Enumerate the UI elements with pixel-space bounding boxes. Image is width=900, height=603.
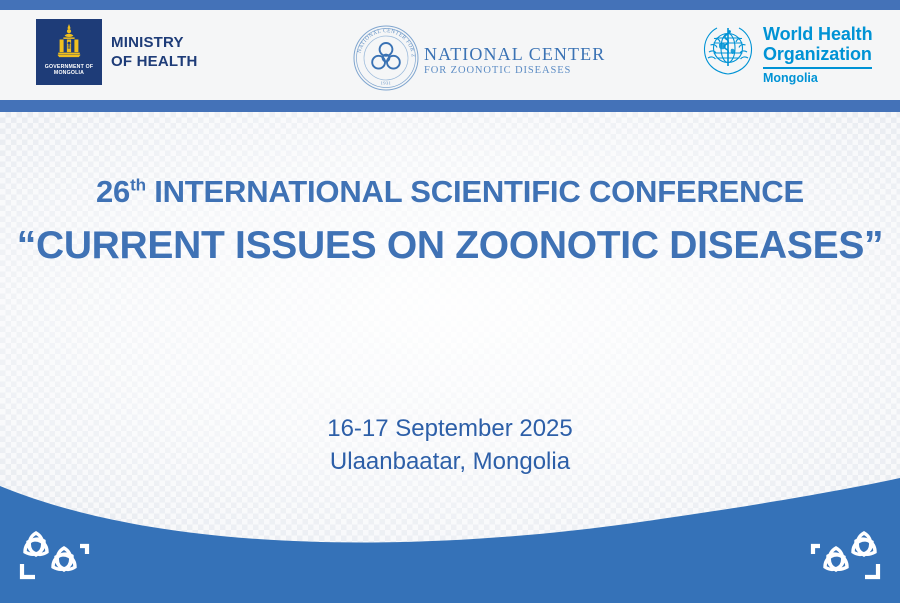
conference-title-slide: GOVERNMENT OF MONGOLIA MINISTRY OF HEALT… [0,0,900,603]
corner-bracket [865,564,878,577]
page-title: “CURRENT ISSUES ON ZOONOTIC DISEASES” [0,221,900,270]
national-center-zoonotic-diseases-logo: NATIONAL CENTER FOR ZOONOTIC DISEASES 19… [352,24,605,97]
ministry-name-line-2: OF HEALTH [111,52,198,71]
who-country-label: Mongolia [763,72,872,85]
who-divider-rule [763,67,872,69]
nczd-name-line-1: NATIONAL CENTER [424,45,605,63]
event-meta-block: 16-17 September 2025 Ulaanbaatar, Mongol… [0,412,900,478]
nczd-name-line-2: FOR ZOONOTIC DISEASES [424,66,605,77]
ministry-of-health-name: MINISTRY OF HEALTH [111,33,198,71]
who-mongolia-logo: World Health Organization Mongolia [700,22,872,84]
svg-text:NATIONAL CENTER FOR ZOONOTIC D: NATIONAL CENTER FOR ZOONOTIC DISEASES [352,24,416,58]
title-block: 26th INTERNATIONAL SCIENTIFIC CONFERENCE… [0,172,900,270]
ministry-of-health-logo: GOVERNMENT OF MONGOLIA MINISTRY OF HEALT… [36,19,198,85]
top-accent-strip [0,0,900,10]
svg-text:1931: 1931 [381,81,392,86]
event-location: Ulaanbaatar, Mongolia [0,445,900,478]
mongolian-ulzii-knot-icon [14,524,92,591]
zoonotic-biohazard-seal-icon: NATIONAL CENTER FOR ZOONOTIC DISEASES 19… [352,24,420,97]
who-name-line-1: World Health [763,24,872,44]
conference-edition-heading: 26th INTERNATIONAL SCIENTIFIC CONFERENCE [0,172,900,212]
who-name-line-2: Organization [763,44,872,64]
crest-line-1: GOVERNMENT OF [45,64,93,70]
ministry-name-line-1: MINISTRY [111,33,198,52]
edition-number: 26 [96,174,130,209]
who-wordmark: World Health Organization Mongolia [763,22,872,84]
who-emblem-icon [700,22,756,83]
nczd-wordmark: NATIONAL CENTER FOR ZOONOTIC DISEASES [424,45,605,77]
corner-bracket [22,564,35,577]
corner-bracket-2 [80,546,87,554]
mongolia-state-emblem-soyombo-icon: GOVERNMENT OF MONGOLIA [36,19,102,85]
crest-line-2: MONGOLIA [54,70,84,76]
edition-rest: INTERNATIONAL SCIENTIFIC CONFERENCE [146,174,804,209]
mongolian-ulzii-knot-icon [808,524,886,591]
header-divider-strip [0,100,900,112]
corner-bracket-2 [813,546,820,554]
edition-suffix: th [130,176,146,195]
event-date: 16-17 September 2025 [0,412,900,445]
